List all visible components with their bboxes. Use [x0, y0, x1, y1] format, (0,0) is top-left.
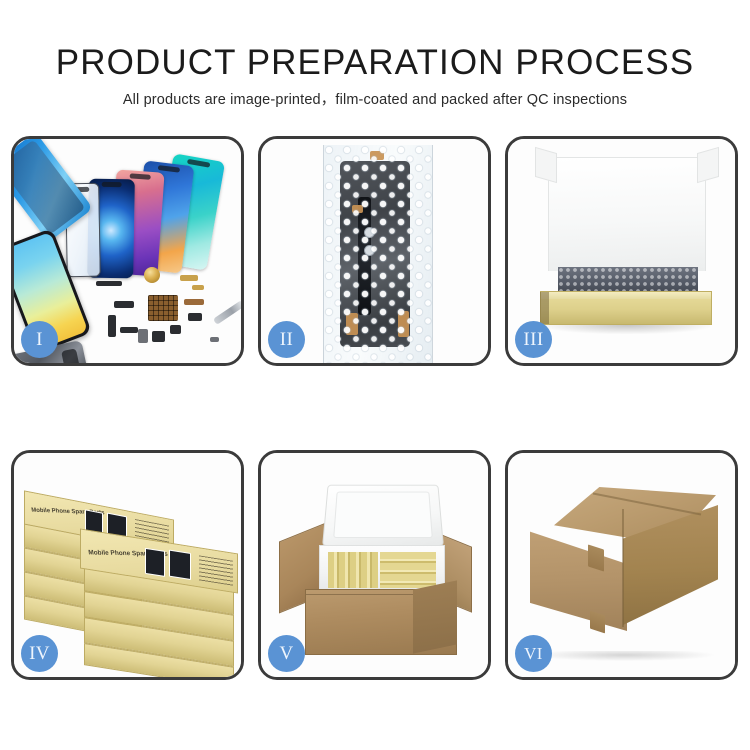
box-spec-text-block — [199, 555, 233, 585]
product-window-image — [169, 550, 191, 580]
component-chip — [170, 325, 181, 334]
lid-flap-right — [697, 147, 719, 183]
foam-lid-inset — [333, 492, 433, 538]
process-step-3: III — [505, 136, 738, 366]
tape-tab — [352, 205, 363, 213]
white-box-lid — [548, 157, 706, 271]
repair-tool-screwdriver — [213, 300, 241, 325]
component-connector — [114, 301, 134, 308]
step-badge-5: V — [268, 635, 305, 672]
component-mesh-board — [148, 295, 178, 321]
notch — [130, 173, 151, 179]
drop-shadow — [544, 325, 710, 334]
bubble-wrap-bag — [323, 145, 433, 363]
carton-tab-lower — [590, 611, 605, 634]
component-camera — [138, 329, 148, 343]
yellow-boxes-left-group — [328, 552, 378, 588]
small-components-group — [92, 265, 241, 363]
step-badge-2: II — [268, 321, 305, 358]
page-subtitle: All products are image-printed，film-coat… — [0, 88, 750, 109]
process-step-6: VI — [505, 450, 738, 680]
component-bracket — [120, 327, 138, 333]
product-window-image — [145, 548, 165, 577]
component-gold-strip — [192, 285, 204, 290]
header: PRODUCT PREPARATION PROCESS All products… — [0, 0, 750, 125]
step-badge-1: I — [21, 321, 58, 358]
component-speaker — [188, 313, 202, 321]
component-strip — [96, 281, 122, 286]
notch — [102, 182, 122, 187]
lid-flap-left — [535, 147, 557, 183]
component-flex-cable — [108, 315, 116, 337]
screen-inner — [14, 139, 85, 234]
tape-tab — [398, 311, 409, 337]
component-coin — [144, 267, 160, 283]
step-badge-3: III — [515, 321, 552, 358]
flex-cable — [358, 197, 371, 315]
chip-round — [364, 245, 375, 256]
tape-tab — [370, 151, 384, 160]
carton-corner-edge — [622, 509, 624, 627]
page-title: PRODUCT PREPARATION PROCESS — [0, 43, 750, 83]
stacked-boxes-group: Mobile Phone Spare Parts Mobile Phone Sp… — [22, 471, 240, 671]
process-step-4: Mobile Phone Spare Parts Mobile Phone Sp… — [11, 450, 244, 680]
tray-edge-left — [540, 292, 549, 324]
process-step-grid: I II — [11, 136, 739, 681]
component-screw — [210, 337, 219, 342]
notch — [158, 165, 180, 173]
step-badge-4: IV — [21, 635, 58, 672]
kraft-yellow-tray — [540, 291, 712, 325]
process-step-2: II — [258, 136, 491, 366]
drop-shadow — [534, 651, 714, 661]
tape-tab — [346, 313, 358, 335]
cardboard-carton-body — [305, 589, 457, 655]
component-chip — [152, 331, 165, 342]
yellow-boxes-inside — [328, 552, 436, 588]
chip-round — [364, 227, 375, 238]
process-step-1: I — [11, 136, 244, 366]
carton-side-face — [413, 580, 457, 653]
yellow-boxes-right-group — [380, 552, 436, 588]
carton-front-face — [530, 523, 627, 631]
screen-assembly-part — [340, 161, 410, 347]
step-badge-6: VI — [515, 635, 552, 672]
component-copper-strip — [184, 299, 204, 305]
product-preparation-infographic: PRODUCT PREPARATION PROCESS All products… — [0, 0, 750, 750]
grey-bubble-foam — [558, 267, 698, 293]
foam-liner-lid — [322, 485, 444, 546]
sealed-shipping-carton — [530, 487, 720, 647]
process-step-5: V — [258, 450, 491, 680]
component-gold-strip — [180, 275, 198, 281]
tray-lip — [541, 292, 711, 299]
